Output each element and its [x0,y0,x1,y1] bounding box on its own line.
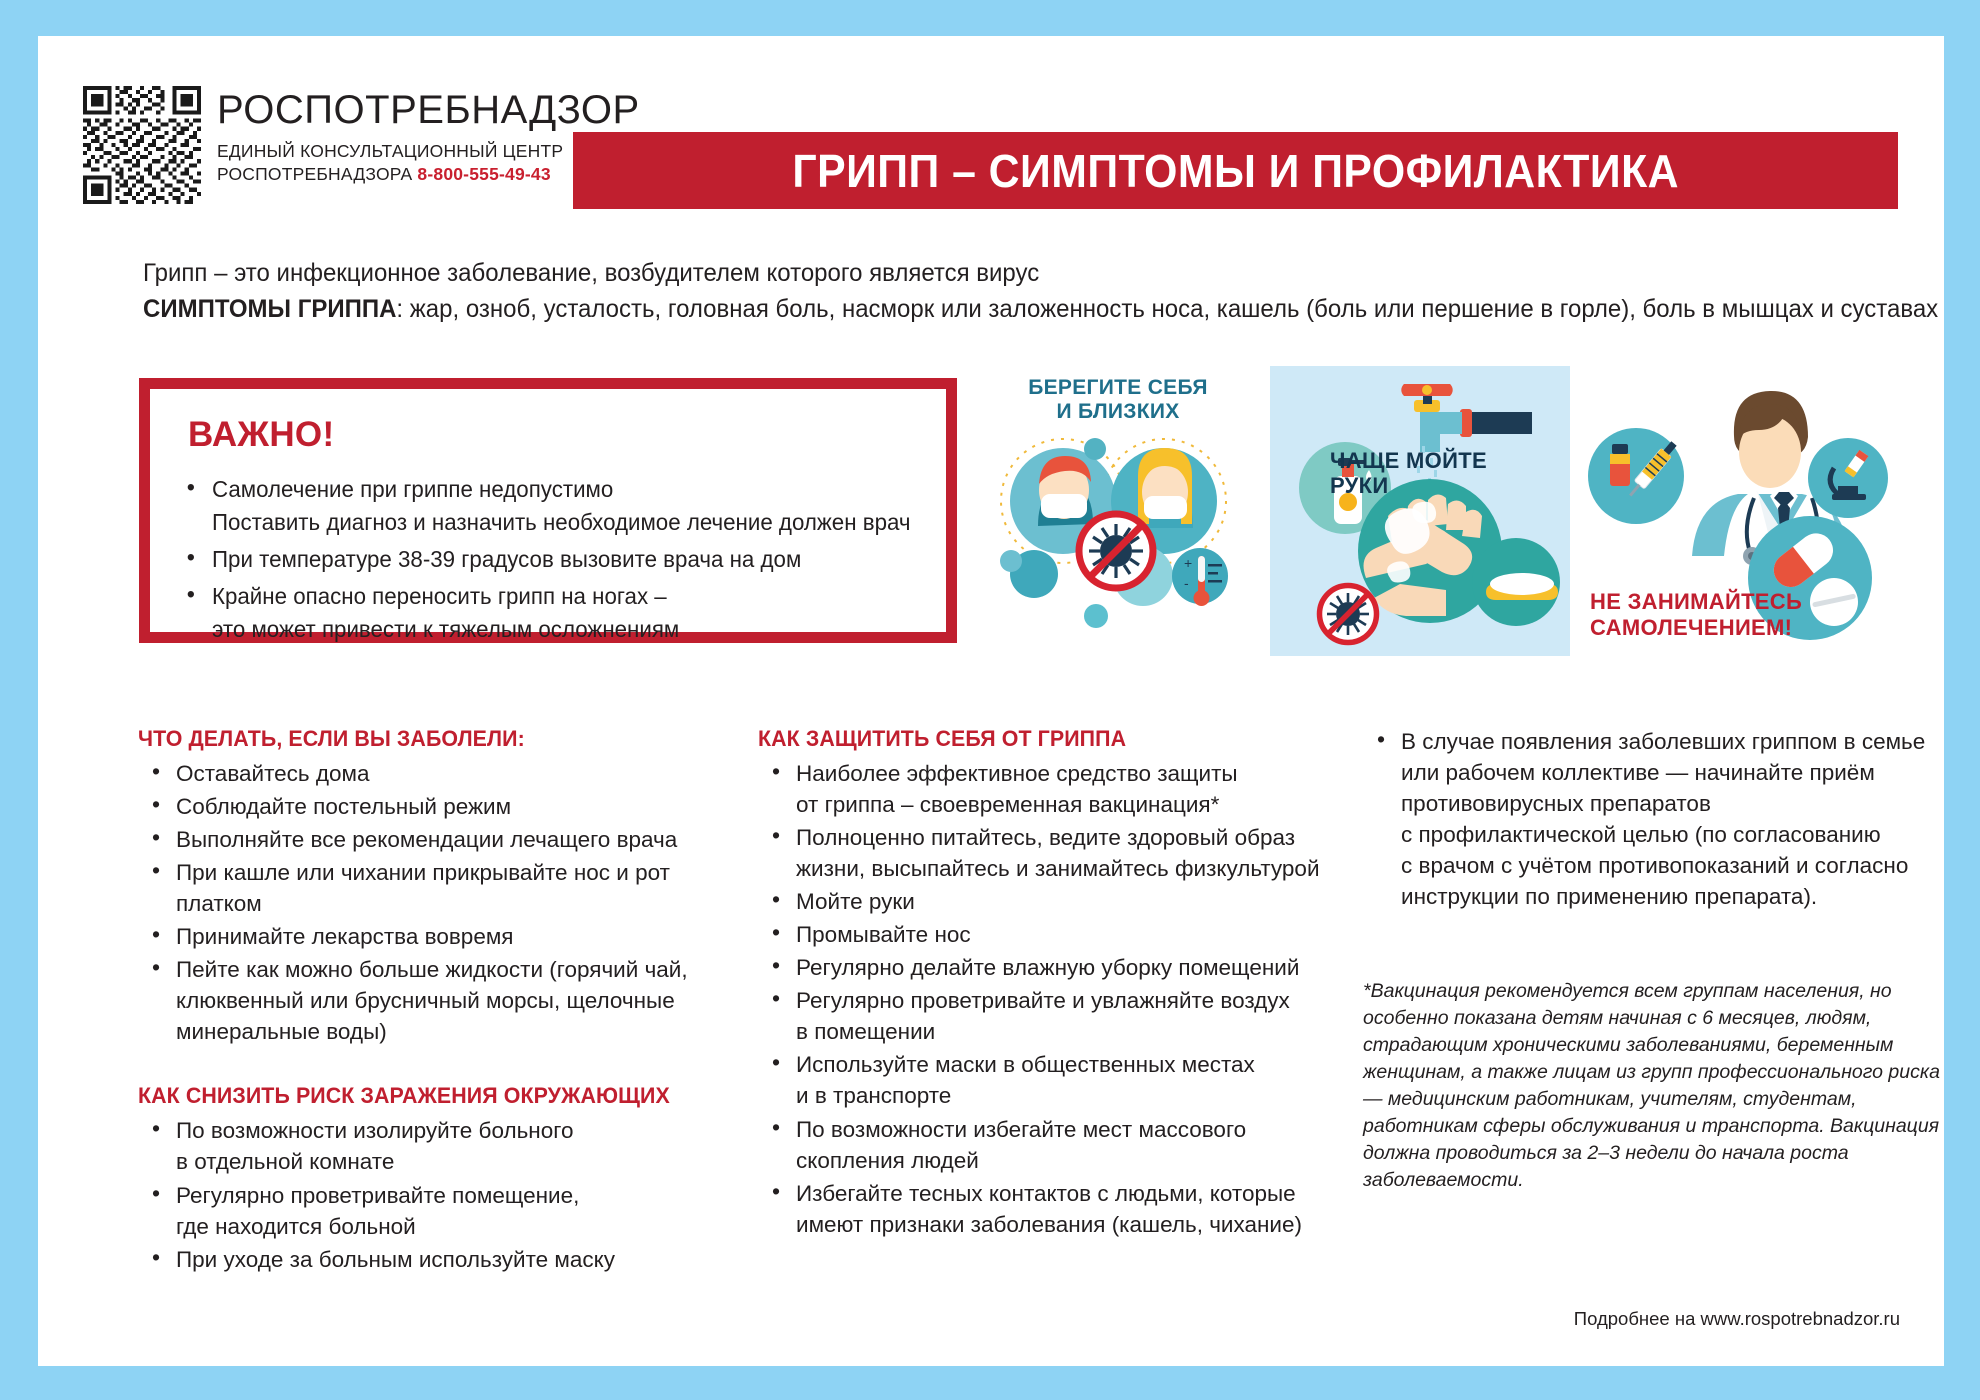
list-item: Крайне опасно переносить грипп на ногах … [212,580,924,646]
column-if-you-are-sick: ЧТО ДЕЛАТЬ, ЕСЛИ ВЫ ЗАБОЛЕЛИ: Оставайтес… [138,726,728,1277]
symptoms-text: : жар, озноб, усталость, головная боль, … [396,295,1938,323]
list-item: Регулярно делайте влажную уборку помещен… [796,952,1328,983]
list-item: Регулярно проветривайте помещение,где на… [176,1180,728,1242]
list-item: По возможности избегайте мест массовогос… [796,1114,1328,1176]
list-item: Мойте руки [796,886,1328,917]
list-item: По возможности изолируйте больногов отде… [176,1115,728,1177]
center-line-1: ЕДИНЫЙ КОНСУЛЬТАЦИОННЫЙ ЦЕНТР [217,141,563,161]
list-item: Оставайтесь дома [176,758,728,789]
heading-what-to-do: ЧТО ДЕЛАТЬ, ЕСЛИ ВЫ ЗАБОЛЕЛИ: [138,726,699,752]
hotline-phone: 8-800-555-49-43 [417,164,550,184]
list-item: Самолечение при гриппе недопустимоПостав… [212,473,924,539]
list-item: Полноценно питайтесь, ведите здоровый об… [796,822,1328,884]
list-item: Выполняйте все рекомендации лечащего вра… [176,824,728,855]
intro-line-1: Грипп – это инфекционное заболевание, во… [143,256,1852,292]
column-antiviral-note: В случае появления заболевших гриппом в … [1363,726,1943,1213]
illustrations: БЕРЕГИТЕ СЕБЯИ БЛИЗКИХ [968,366,1928,656]
protect-yourself-caption: БЕРЕГИТЕ СЕБЯИ БЛИЗКИХ [968,376,1268,424]
list-item: Соблюдайте постельный режим [176,791,728,822]
heading-how-to-protect: КАК ЗАЩИТИТЬ СЕБЯ ОТ ГРИППА [758,726,1300,752]
list-item: Избегайте тесных контактов с людьми, кот… [796,1178,1328,1240]
poster-header: РОСПОТРЕБНАДЗОР ЕДИНЫЙ КОНСУЛЬТАЦИОННЫЙ … [38,36,1944,206]
no-self-medication-caption: НЕ ЗАНИМАЙТЕСЬСАМОЛЕЧЕНИЕМ! [1576,589,1850,640]
column-spacer [138,1049,728,1083]
heading-reduce-risk: КАК СНИЗИТЬ РИСК ЗАРАЖЕНИЯ ОКРУЖАЮЩИХ [138,1083,699,1109]
important-heading: ВАЖНО! [150,389,946,455]
website-link[interactable]: Подробнее на www.rospotrebnadzor.ru [1574,1308,1900,1330]
important-box: ВАЖНО! Самолечение при гриппе недопустим… [139,378,957,643]
illustration-see-doctor: НЕ ЗАНИМАЙТЕСЬСАМОЛЕЧЕНИЕМ! [1576,366,1926,656]
illustration-protect-yourself: БЕРЕГИТЕ СЕБЯИ БЛИЗКИХ [968,366,1268,656]
list-item: Принимайте лекарства вовремя [176,921,728,952]
list-item: Используйте маски в общественных местахи… [796,1049,1328,1111]
intro-text: Грипп – это инфекционное заболевание, во… [143,256,1923,327]
list-reduce-risk: По возможности изолируйте больногов отде… [138,1115,728,1274]
list-item: Регулярно проветривайте и увлажняйте воз… [796,985,1328,1047]
column-how-to-protect: КАК ЗАЩИТИТЬ СЕБЯ ОТ ГРИППА Наиболее эфф… [758,726,1328,1242]
page-title: ГРИПП – СИМПТОМЫ И ПРОФИЛАКТИКА [792,144,1679,198]
wash-hands-caption: ЧАЩЕ МОЙТЕРУКИ [1330,448,1487,499]
list-item: В случае появления заболевших гриппом в … [1401,726,1943,912]
svg-text:+: + [1184,555,1192,571]
list-item: Промывайте нос [796,919,1328,950]
qr-code-icon [83,86,201,204]
list-item: При уходе за больным используйте маску [176,1244,728,1275]
vaccination-footnote: *Вакцинация рекомендуется всем группам н… [1363,978,1943,1193]
symptoms-label: СИМПТОМЫ ГРИППА [143,295,396,323]
list-how-to-protect: Наиболее эффективное средство защитыот г… [758,758,1328,1240]
list-item: Пейте как можно больше жидкости (горячий… [176,954,728,1047]
list-item: При кашле или чихании прикрывайте нос и … [176,857,728,919]
intro-line-2: СИМПТОМЫ ГРИППА: жар, озноб, усталость, … [143,292,1852,328]
poster: РОСПОТРЕБНАДЗОР ЕДИНЫЙ КОНСУЛЬТАЦИОННЫЙ … [38,36,1944,1366]
list-item: Наиболее эффективное средство защитыот г… [796,758,1328,820]
illustration-wash-hands: ЧАЩЕ МОЙТЕРУКИ [1270,366,1570,656]
important-list: Самолечение при гриппе недопустимоПостав… [150,473,946,647]
list-antiviral: В случае появления заболевших гриппом в … [1363,726,1943,912]
wash-hands-graphic [1270,366,1570,656]
title-banner: ГРИПП – СИМПТОМЫ И ПРОФИЛАКТИКА [573,132,1898,209]
svg-text:-: - [1184,575,1189,591]
list-item: При температуре 38-39 градусов вызовите … [212,543,924,576]
center-line-2: РОСПОТРЕБНАДЗОРА [217,164,412,184]
brand-logo: РОСПОТРЕБНАДЗОР ЕДИНЫЙ КОНСУЛЬТАЦИОННЫЙ … [83,86,640,204]
list-what-to-do: Оставайтесь домаСоблюдайте постельный ре… [138,758,728,1047]
org-name: РОСПОТРЕБНАДЗОР [217,90,640,130]
